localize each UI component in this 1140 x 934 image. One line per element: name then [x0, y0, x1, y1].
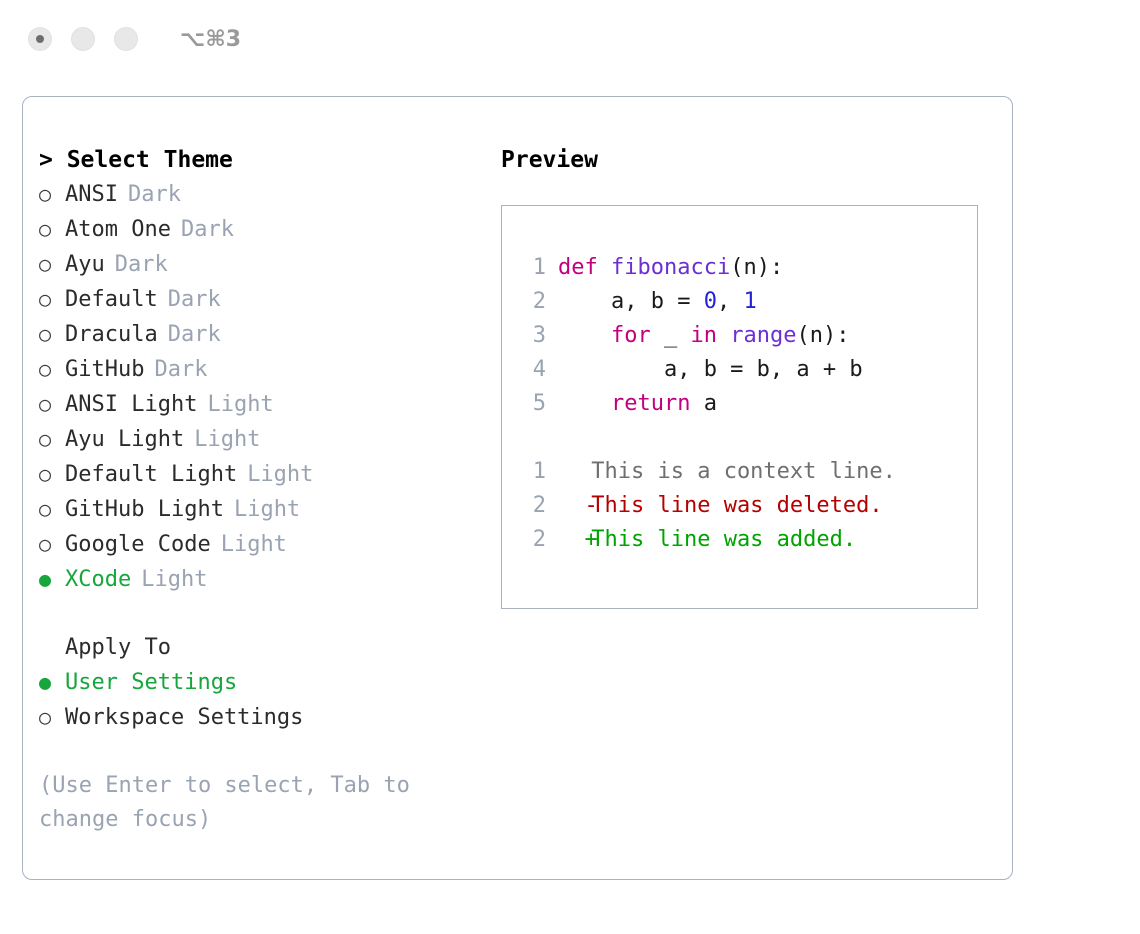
theme-option-github-light[interactable]: ○GitHub LightLight	[39, 492, 489, 527]
theme-option-label: ANSI Light	[65, 388, 197, 422]
keyboard-hint-text: (Use Enter to select, Tab to change focu…	[39, 769, 449, 837]
theme-option-variant: Dark	[181, 213, 234, 247]
window-control-active-icon[interactable]	[28, 27, 52, 51]
theme-option-label: GitHub	[65, 353, 144, 387]
theme-option-variant: Dark	[168, 283, 221, 317]
theme-option-label: ANSI	[65, 178, 118, 212]
diff-line-add: 2 + This line was added.	[516, 523, 969, 557]
radio-unselected-icon: ○	[39, 422, 65, 456]
apply-to-option-user-settings[interactable]: ●User Settings	[39, 665, 489, 700]
theme-option-label: GitHub Light	[65, 493, 224, 527]
diff-line-number: 1	[516, 455, 546, 489]
diff-marker-icon: -	[558, 489, 578, 523]
apply-to-heading: Apply To	[39, 631, 489, 665]
code-line-text: a, b = 0, 1	[558, 285, 757, 319]
code-line-number: 4	[516, 353, 546, 387]
theme-option-default[interactable]: ○DefaultDark	[39, 282, 489, 317]
code-line: 3 for _ in range(n):	[516, 319, 969, 353]
code-line: 5 return a	[516, 387, 969, 421]
code-line: 1def fibonacci(n):	[516, 251, 969, 285]
theme-option-label: Ayu Light	[65, 423, 184, 457]
preview-heading: Preview	[501, 143, 1001, 177]
code-line-text: return a	[558, 387, 717, 421]
theme-option-variant: Light	[141, 563, 207, 597]
code-token-plain: a, b =	[558, 289, 704, 314]
apply-to-list: ●User Settings○Workspace Settings	[39, 665, 489, 735]
code-token-plain: a	[690, 391, 717, 416]
theme-option-default-light[interactable]: ○Default LightLight	[39, 457, 489, 492]
code-line-text: a, b = b, a + b	[558, 353, 863, 387]
theme-option-label: XCode	[65, 563, 131, 597]
code-token-fn: fibonacci	[611, 255, 730, 280]
apply-to-option-label: User Settings	[65, 666, 237, 700]
code-preview: 1def fibonacci(n):2 a, b = 0, 13 for _ i…	[516, 251, 969, 557]
window-controls	[28, 27, 138, 51]
radio-unselected-icon: ○	[39, 387, 65, 421]
theme-option-label: Atom One	[65, 213, 171, 247]
title-bar: ⌥⌘3	[0, 0, 1140, 78]
preview-box: 1def fibonacci(n):2 a, b = 0, 13 for _ i…	[501, 205, 978, 609]
radio-unselected-icon: ○	[39, 177, 65, 211]
radio-unselected-icon: ○	[39, 700, 65, 734]
code-token-plain	[558, 391, 611, 416]
diff-line-del: 2 - This line was deleted.	[516, 489, 969, 523]
diff-line-text: This line was deleted.	[578, 489, 883, 523]
radio-unselected-icon: ○	[39, 457, 65, 491]
radio-unselected-icon: ○	[39, 352, 65, 386]
theme-option-label: Default	[65, 283, 158, 317]
theme-option-xcode[interactable]: ●XCodeLight	[39, 562, 489, 597]
code-token-plain: _	[651, 323, 691, 348]
diff-sample: 1 This is a context line.2 - This line w…	[516, 455, 969, 557]
code-line-number: 3	[516, 319, 546, 353]
theme-option-variant: Dark	[154, 353, 207, 387]
theme-option-github[interactable]: ○GitHubDark	[39, 352, 489, 387]
code-line-number: 2	[516, 285, 546, 319]
theme-option-label: Dracula	[65, 318, 158, 352]
theme-option-variant: Light	[234, 493, 300, 527]
diff-line-text: This line was added.	[578, 523, 856, 557]
theme-selection-column: > Select Theme ○ANSIDark○Atom OneDark○Ay…	[39, 143, 489, 837]
diff-line-text: This is a context line.	[578, 455, 896, 489]
code-token-fn: range	[730, 323, 796, 348]
app-window: ⌥⌘3 > Select Theme ○ANSIDark○Atom OneDar…	[0, 0, 1140, 934]
theme-option-ansi-light[interactable]: ○ANSI LightLight	[39, 387, 489, 422]
theme-option-ayu[interactable]: ○AyuDark	[39, 247, 489, 282]
window-control-second-icon[interactable]	[71, 27, 95, 51]
radio-unselected-icon: ○	[39, 317, 65, 351]
active-dot-indicator	[36, 35, 44, 43]
diff-line-number: 2	[516, 523, 546, 557]
code-line: 2 a, b = 0, 1	[516, 285, 969, 319]
code-token-plain: ,	[717, 289, 744, 314]
theme-option-variant: Light	[247, 458, 313, 492]
theme-option-variant: Light	[221, 528, 287, 562]
code-line-text: def fibonacci(n):	[558, 251, 783, 285]
diff-marker-icon: +	[558, 523, 578, 557]
preview-spacer	[516, 421, 969, 455]
code-token-kw: in	[690, 323, 717, 348]
radio-unselected-icon: ○	[39, 492, 65, 526]
code-line-number: 1	[516, 251, 546, 285]
theme-option-ayu-light[interactable]: ○Ayu LightLight	[39, 422, 489, 457]
code-line: 4 a, b = b, a + b	[516, 353, 969, 387]
theme-option-google-code[interactable]: ○Google CodeLight	[39, 527, 489, 562]
code-sample: 1def fibonacci(n):2 a, b = 0, 13 for _ i…	[516, 251, 969, 421]
window-control-third-icon[interactable]	[114, 27, 138, 51]
code-token-num: 0	[704, 289, 717, 314]
radio-unselected-icon: ○	[39, 212, 65, 246]
theme-option-variant: Light	[194, 423, 260, 457]
code-token-plain	[717, 323, 730, 348]
radio-unselected-icon: ○	[39, 527, 65, 561]
select-theme-heading: > Select Theme	[39, 143, 489, 177]
code-token-plain: (n):	[730, 255, 783, 280]
main-panel: > Select Theme ○ANSIDark○Atom OneDark○Ay…	[22, 96, 1013, 880]
code-token-plain	[558, 323, 611, 348]
theme-option-variant: Dark	[128, 178, 181, 212]
theme-option-variant: Light	[207, 388, 273, 422]
code-line-number: 5	[516, 387, 546, 421]
theme-option-label: Default Light	[65, 458, 237, 492]
apply-to-option-workspace-settings[interactable]: ○Workspace Settings	[39, 700, 489, 735]
keyboard-shortcut-label: ⌥⌘3	[180, 27, 241, 52]
code-token-kw: return	[611, 391, 690, 416]
code-line-text: for _ in range(n):	[558, 319, 849, 353]
diff-line-number: 2	[516, 489, 546, 523]
radio-unselected-icon: ○	[39, 247, 65, 281]
theme-option-variant: Dark	[168, 318, 221, 352]
radio-selected-icon: ●	[39, 562, 65, 596]
code-token-kw: def	[558, 255, 611, 280]
code-token-num: 1	[743, 289, 756, 314]
code-token-kw: for	[611, 323, 651, 348]
apply-to-option-label: Workspace Settings	[65, 701, 303, 735]
theme-option-label: Google Code	[65, 528, 211, 562]
diff-marker-icon	[558, 455, 578, 489]
theme-option-atom-one[interactable]: ○Atom OneDark	[39, 212, 489, 247]
code-token-plain: a, b = b, a + b	[558, 357, 863, 382]
theme-option-dracula[interactable]: ○DraculaDark	[39, 317, 489, 352]
theme-option-variant: Dark	[115, 248, 168, 282]
theme-option-ansi[interactable]: ○ANSIDark	[39, 177, 489, 212]
theme-option-label: Ayu	[65, 248, 105, 282]
diff-line-ctx: 1 This is a context line.	[516, 455, 969, 489]
theme-list: ○ANSIDark○Atom OneDark○AyuDark○DefaultDa…	[39, 177, 489, 597]
radio-selected-icon: ●	[39, 665, 65, 699]
preview-column: Preview 1def fibonacci(n):2 a, b = 0, 13…	[501, 143, 1001, 609]
code-token-plain: (n):	[796, 323, 849, 348]
radio-unselected-icon: ○	[39, 282, 65, 316]
